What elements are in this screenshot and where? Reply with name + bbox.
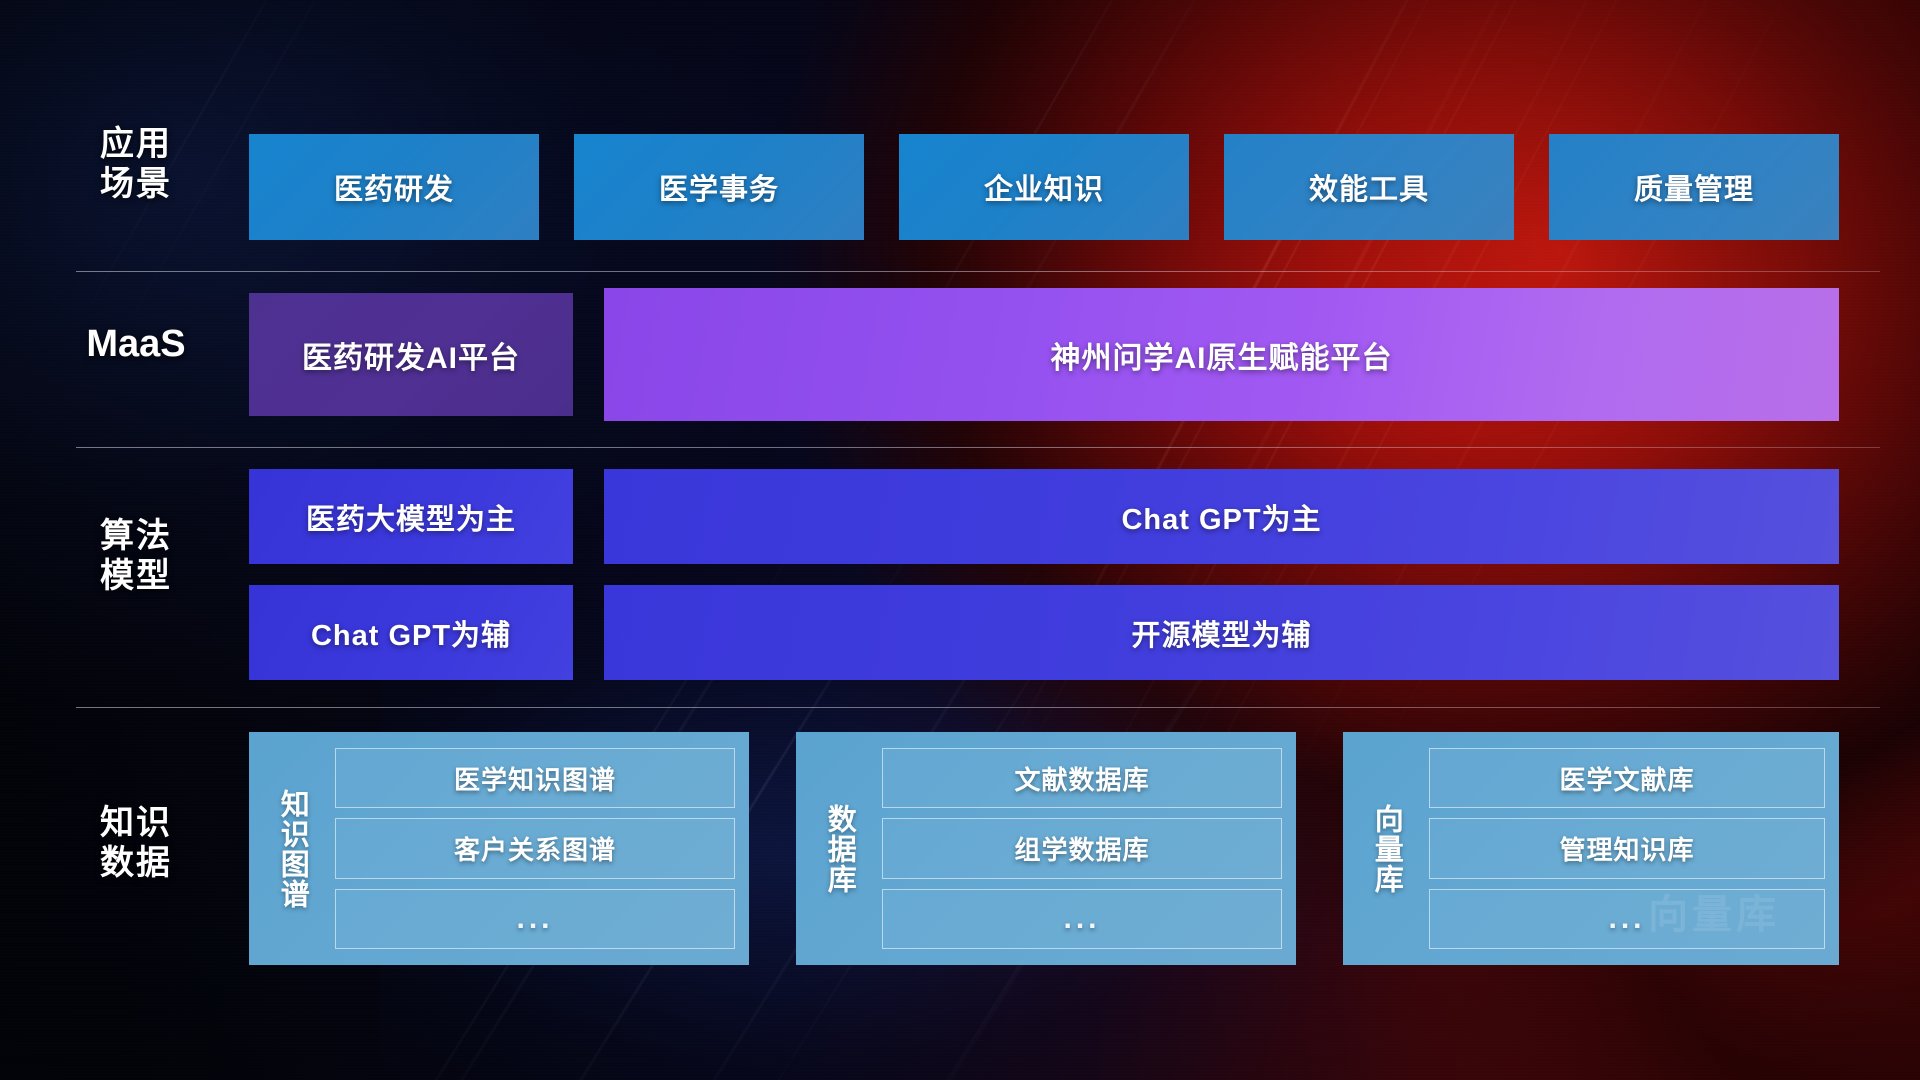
maas-card-shenzhou-wenxue-platform[interactable]: 神州问学AI原生赋能平台 — [604, 288, 1839, 421]
knowledge-panel-graph[interactable]: 知识图谱 医学知识图谱 客户关系图谱 ... — [249, 732, 749, 965]
divider-application-maas — [76, 271, 1880, 272]
knowledge-panel-database[interactable]: 数据库 文献数据库 组学数据库 ... — [796, 732, 1296, 965]
divider-maas-algorithm — [76, 447, 1880, 448]
algo-card-pharma-llm-primary[interactable]: 医药大模型为主 — [249, 469, 573, 564]
algo-card-opensource-secondary[interactable]: 开源模型为辅 — [604, 585, 1839, 680]
knowledge-item-medical-graph[interactable]: 医学知识图谱 — [335, 748, 735, 808]
row-label-knowledge: 知识 数据 — [76, 803, 196, 883]
knowledge-item-omics-db[interactable]: 组学数据库 — [882, 818, 1282, 878]
app-card-drug-rd[interactable]: 医药研发 — [249, 134, 539, 240]
knowledge-item-literature-db[interactable]: 文献数据库 — [882, 748, 1282, 808]
knowledge-item-database-more[interactable]: ... — [882, 889, 1282, 949]
knowledge-item-medical-literature[interactable]: 医学文献库 — [1429, 748, 1825, 808]
algo-card-chatgpt-primary[interactable]: Chat GPT为主 — [604, 469, 1839, 564]
knowledge-panel-vector[interactable]: 向量库 医学文献库 管理知识库 ... — [1343, 732, 1839, 965]
knowledge-item-vector-more[interactable]: ... — [1429, 889, 1825, 949]
knowledge-panel-database-title: 数据库 — [796, 748, 882, 949]
knowledge-item-customer-graph[interactable]: 客户关系图谱 — [335, 818, 735, 878]
row-label-algorithm: 算法 模型 — [76, 516, 196, 596]
app-card-enterprise-knowledge[interactable]: 企业知识 — [899, 134, 1189, 240]
knowledge-item-graph-more[interactable]: ... — [335, 889, 735, 949]
algo-card-chatgpt-secondary[interactable]: Chat GPT为辅 — [249, 585, 573, 680]
maas-card-drug-rd-ai-platform[interactable]: 医药研发AI平台 — [249, 293, 573, 416]
slide-canvas: 应用 场景 医药研发 医学事务 企业知识 效能工具 质量管理 MaaS 医药研发… — [0, 0, 1920, 1080]
divider-algorithm-knowledge — [76, 707, 1880, 708]
knowledge-item-management-knowledge[interactable]: 管理知识库 — [1429, 818, 1825, 878]
app-card-quality-management[interactable]: 质量管理 — [1549, 134, 1839, 240]
knowledge-panel-vector-title: 向量库 — [1343, 748, 1429, 949]
row-label-application: 应用 场景 — [76, 124, 196, 204]
app-card-efficiency-tools[interactable]: 效能工具 — [1224, 134, 1514, 240]
knowledge-panel-graph-title: 知识图谱 — [249, 748, 335, 949]
row-label-maas: MaaS — [70, 322, 202, 367]
app-card-medical-affairs[interactable]: 医学事务 — [574, 134, 864, 240]
